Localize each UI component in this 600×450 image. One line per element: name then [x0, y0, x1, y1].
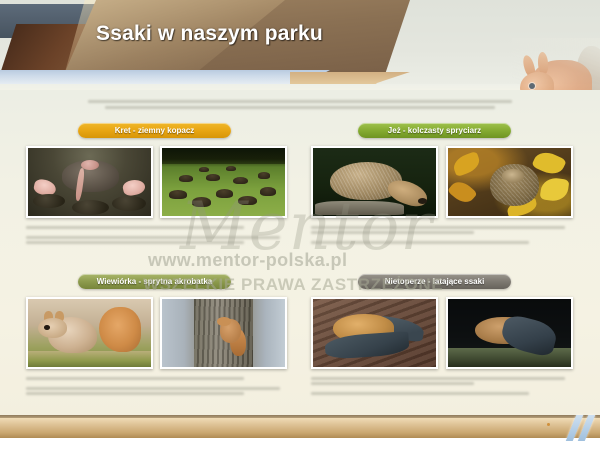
section-header-bat[interactable]: Nietoperze - latające ssaki: [358, 274, 511, 289]
slide-canvas: Ssaki w naszym parku Kret - ziemny kopac…: [0, 0, 600, 450]
text-line: [26, 392, 244, 395]
soil-clump: [112, 196, 146, 211]
hedgehog-face: [502, 169, 524, 183]
hedgehog-in-leaves-photo[interactable]: [446, 146, 573, 218]
text-line: [26, 387, 280, 390]
caption-bat: [311, 377, 565, 397]
section-header-mole[interactable]: Kret - ziemny kopacz: [78, 123, 231, 138]
molehill: [238, 196, 256, 206]
hedgehog-on-log-photo[interactable]: [311, 146, 438, 218]
text-line: [26, 226, 244, 229]
header-blue-strip: [0, 70, 330, 84]
bat-on-ground-photo[interactable]: [446, 297, 573, 369]
caption-squirrel: [26, 377, 280, 397]
section-header-hedgehog[interactable]: Jeż - kolczasty spryciarz: [358, 123, 511, 138]
slide-body: Kret - ziemny kopacz Jeż - kolczasty spr…: [0, 90, 600, 415]
caption-hedgehog: [311, 226, 565, 246]
footer-base: [0, 438, 600, 450]
text-line: [105, 106, 495, 109]
caption-mole: [26, 226, 280, 246]
molehill: [206, 174, 220, 181]
slide-footer: [0, 415, 600, 450]
mossy-ground: [28, 351, 151, 367]
intro-paragraph: [88, 100, 512, 112]
molehill: [260, 187, 276, 195]
header-tan-strip: [290, 72, 410, 84]
text-line: [311, 392, 529, 395]
text-line: [311, 382, 474, 385]
text-line: [88, 100, 512, 103]
text-line: [311, 241, 529, 244]
molehill: [192, 197, 212, 207]
mole-snout: [81, 160, 99, 170]
squirrel-tail: [99, 307, 141, 352]
molehill: [233, 177, 248, 184]
soil-clump: [72, 200, 109, 215]
squirrel-on-trunk-photo[interactable]: [160, 297, 287, 369]
squirrel-eating-photo[interactable]: [26, 297, 153, 369]
molehill: [226, 166, 236, 171]
molehill: [258, 172, 270, 178]
text-line: [311, 226, 565, 229]
section-header-squirrel[interactable]: Wiewiórka - sprytna akrobatka: [78, 274, 231, 289]
text-line: [311, 377, 565, 380]
squirrel-head: [38, 318, 68, 338]
text-line: [26, 241, 244, 244]
molehill: [169, 190, 186, 199]
molehill: [199, 167, 209, 172]
bat-on-wood-photo[interactable]: [311, 297, 438, 369]
page-title: Ssaki w naszym parku: [96, 22, 396, 46]
log: [315, 201, 404, 215]
molehill: [179, 175, 193, 182]
slide-header: Ssaki w naszym parku: [0, 0, 600, 90]
text-line: [26, 377, 244, 380]
squirrel-fade-overlay: [512, 38, 600, 90]
molehills-field-photo[interactable]: [160, 146, 287, 218]
text-line: [26, 236, 280, 239]
logo-dot: [547, 423, 550, 426]
molehill: [216, 189, 233, 198]
mole-with-worm-photo[interactable]: [26, 146, 153, 218]
text-line: [311, 231, 474, 234]
treeline: [162, 148, 285, 164]
corner-squirrel-image: [512, 38, 600, 90]
soil-clump: [33, 194, 65, 208]
mentor-logo: [560, 416, 594, 440]
squirrel-eye: [44, 325, 50, 330]
footer-bar: [0, 418, 600, 438]
